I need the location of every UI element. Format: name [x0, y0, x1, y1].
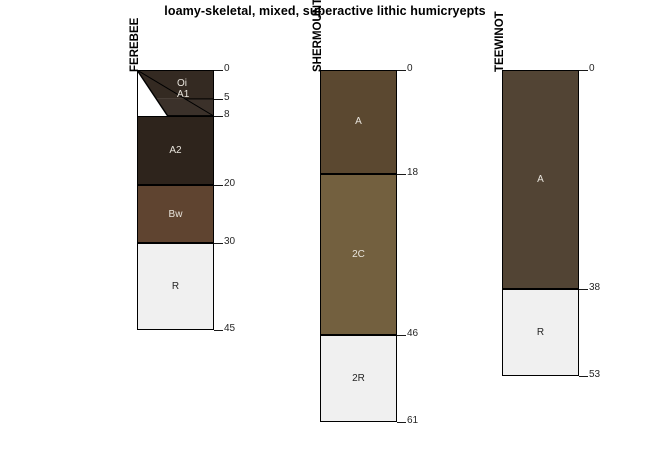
horizon-label: A [537, 174, 544, 185]
horizon-label: 2C [352, 249, 365, 260]
horizon-a2: A2 [137, 116, 214, 185]
horizon-label: A1 [177, 89, 189, 100]
depth-tick-label: 18 [407, 167, 418, 178]
depth-tick [397, 422, 406, 423]
depth-tick [214, 70, 223, 71]
horizon-label: R [537, 327, 544, 338]
depth-tick [579, 289, 588, 290]
depth-tick [397, 174, 406, 175]
depth-tick [214, 99, 223, 100]
horizon-2r: 2R [320, 335, 397, 422]
chart-title: loamy-skeletal, mixed, superactive lithi… [0, 4, 650, 18]
horizon-label: R [172, 281, 179, 292]
depth-tick-label: 38 [589, 282, 600, 293]
horizon-bw: Bw [137, 185, 214, 243]
depth-tick [214, 116, 223, 117]
depth-tick-label: 30 [224, 236, 235, 247]
horizon-label: Bw [169, 209, 183, 220]
horizon-a: A [502, 70, 579, 289]
horizon-r: R [137, 243, 214, 330]
depth-tick [214, 330, 223, 331]
horizon-label: Oi [177, 78, 187, 89]
depth-tick [397, 70, 406, 71]
depth-tick-label: 46 [407, 328, 418, 339]
depth-tick-label: 0 [224, 63, 230, 74]
depth-tick-label: 53 [589, 369, 600, 380]
wedge-horizons [137, 70, 214, 116]
depth-tick-label: 0 [407, 63, 413, 74]
depth-tick-label: 5 [224, 92, 230, 103]
pedon-name-label: SHERMOUNT [312, 0, 324, 72]
horizon-label: A2 [169, 145, 181, 156]
depth-tick [579, 376, 588, 377]
horizon-a: A [320, 70, 397, 174]
horizon-label: A [355, 116, 362, 127]
depth-tick [579, 70, 588, 71]
depth-tick [214, 185, 223, 186]
pedon-name-label: FEREBEE [129, 18, 141, 72]
depth-tick-label: 20 [224, 178, 235, 189]
horizon-2c: 2C [320, 174, 397, 336]
horizon-label: 2R [352, 373, 365, 384]
horizon-r: R [502, 289, 579, 376]
soil-profile-chart: loamy-skeletal, mixed, superactive lithi… [0, 0, 650, 450]
depth-tick-label: 8 [224, 109, 230, 120]
pedon-name-label: TEEWINOT [494, 11, 506, 72]
depth-tick-label: 0 [589, 63, 595, 74]
depth-tick [214, 243, 223, 244]
depth-tick [397, 335, 406, 336]
depth-tick-label: 45 [224, 323, 235, 334]
depth-tick-label: 61 [407, 415, 418, 426]
